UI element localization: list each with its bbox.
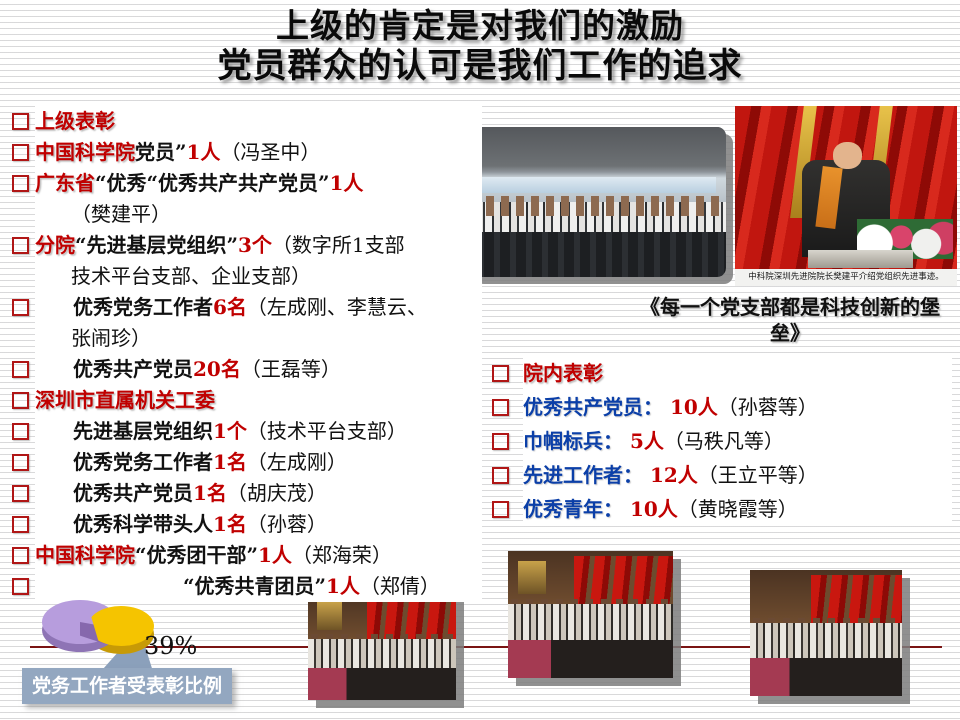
right_list-segment: 5人 (623, 429, 664, 453)
left_list-text: 优秀党务工作者6名（左成刚、李慧云、 (35, 292, 482, 323)
left_list-segment: 1个 (213, 419, 247, 443)
left_list-text: 上级表彰 (35, 106, 482, 137)
left_list-segment: 分院 (35, 233, 75, 257)
left_list-text: （樊建平） (35, 199, 482, 230)
left_list-row: （樊建平） (12, 199, 482, 230)
podium (808, 250, 912, 268)
left_list-segment: “优秀团干部” (135, 543, 258, 567)
right_list-segment: 12人 (643, 463, 698, 487)
right_list-text: 巾帼标兵： 5人（马秩凡等） (523, 424, 952, 458)
audience (750, 658, 902, 696)
checkbox-bullet-icon (12, 516, 29, 533)
left_list-segment: “先进基层党组织” (75, 233, 238, 257)
slide-canvas: 上级的肯定是对我们的激励 党员群众的认可是我们工作的追求 中科院深圳先进院院长樊… (0, 0, 960, 720)
left_list-segment: （技术平台支部） (247, 419, 407, 443)
checkbox-bullet-icon (12, 361, 29, 378)
left-awards-list: 上级表彰中国科学院党员”1人（冯圣中）广东省“优秀“优秀共产共产党员”1人（樊建… (12, 106, 482, 602)
left_list-segment: 6名 (213, 295, 247, 319)
left_list-row: 张闹珍） (12, 323, 482, 354)
left_list-text: 技术平台支部、企业支部） (35, 261, 482, 292)
speaker-photo-caption: 中科院深圳先进院院长樊建平介绍党组织先进事迹。 (735, 269, 957, 286)
checkbox-bullet-icon (492, 399, 509, 416)
title-line-1: 上级的肯定是对我们的激励 (0, 6, 960, 46)
ceremony-photo-2 (508, 551, 673, 678)
right_list-row: 优秀青年： 10人（黄晓霞等） (492, 492, 952, 526)
left_list-segment: 张闹珍） (71, 326, 151, 350)
right_list-segment: （马秩凡等） (664, 429, 784, 453)
left_list-segment: 优秀共产党员 (73, 357, 193, 381)
award-recipients (308, 639, 456, 671)
award-recipients (750, 623, 902, 661)
checkbox-bullet-icon (12, 175, 29, 192)
left_list-segment: （左成刚、李慧云、 (247, 295, 427, 319)
right_list-text: 先进工作者： 12人（王立平等） (523, 458, 952, 492)
left_list-segment: 深圳市直属机关工委 (35, 388, 215, 412)
title-line-2: 党员群众的认可是我们工作的追求 (0, 46, 960, 86)
left_list-segment: （郑海荣） (292, 543, 392, 567)
left_list-text: 深圳市直属机关工委 (35, 385, 482, 416)
left_list-row: 深圳市直属机关工委 (12, 385, 482, 416)
left_list-row: 中国科学院党员”1人（冯圣中） (12, 137, 482, 168)
speaker-head (833, 142, 862, 169)
checkbox-bullet-icon (492, 365, 509, 382)
right_list-text: 优秀青年： 10人（黄晓霞等） (523, 492, 952, 526)
left_list-row: 先进基层党组织1个（技术平台支部） (12, 416, 482, 447)
checkbox-bullet-icon (12, 144, 29, 161)
left_list-text: 优秀科学带头人1名（孙蓉） (35, 509, 482, 540)
left_list-text: 优秀共产党员20名（王磊等） (35, 354, 482, 385)
left_list-segment: 1名 (213, 512, 247, 536)
checkbox-bullet-icon (12, 330, 29, 347)
left_list-segment: 先进基层党组织 (73, 419, 213, 443)
left_list-segment: 20名 (193, 357, 241, 381)
left_list-segment: “优秀“优秀共产共产党员” (95, 171, 330, 195)
left_list-segment: （孙蓉） (247, 512, 327, 536)
left_list-segment: 3个 (238, 233, 272, 257)
left_list-segment: 1人 (187, 140, 221, 164)
checkbox-bullet-icon (492, 467, 509, 484)
photo-caption: 《每一个党支部都是科技创新的堡垒》 (640, 294, 940, 346)
left_list-row: 上级表彰 (12, 106, 482, 137)
left_list-segment: （郑倩） (360, 574, 440, 598)
left_list-row: 优秀共产党员1名（胡庆茂） (12, 478, 482, 509)
left_list-text: 先进基层党组织1个（技术平台支部） (35, 416, 482, 447)
right_list-text: 优秀共产党员： 10人（孙蓉等） (523, 390, 952, 424)
right_list-segment: （黄晓霞等） (678, 497, 798, 521)
left_list-segment: （左成刚） (247, 450, 347, 474)
left_list-row: 优秀党务工作者6名（左成刚、李慧云、 (12, 292, 482, 323)
checkbox-bullet-icon (492, 501, 509, 518)
left_list-segment: 1名 (213, 450, 247, 474)
left_list-text: 广东省“优秀“优秀共产共产党员”1人 (35, 168, 482, 199)
left_list-segment: 党员” (135, 140, 187, 164)
audience (508, 640, 673, 678)
right_list-segment: 10人 (623, 497, 678, 521)
right_list-segment: 院内表彰 (523, 361, 603, 385)
left_list-row: 广东省“优秀“优秀共产共产党员”1人 (12, 168, 482, 199)
right-awards-list: 院内表彰优秀共产党员： 10人（孙蓉等）巾帼标兵： 5人（马秩凡等）先进工作者：… (492, 356, 952, 526)
left_list-row: 优秀科学带头人1名（孙蓉） (12, 509, 482, 540)
right_list-row: 先进工作者： 12人（王立平等） (492, 458, 952, 492)
ceremony-photo-1 (308, 594, 456, 700)
checkbox-bullet-icon (12, 206, 29, 223)
checkbox-bullet-icon (12, 237, 29, 254)
right_list-text: 院内表彰 (523, 356, 952, 390)
group-photo-banner (478, 177, 715, 194)
left_list-segment: 1人 (258, 543, 292, 567)
left_list-text: 分院“先进基层党组织”3个（数字所1支部 (35, 230, 482, 261)
checkbox-bullet-icon (12, 578, 29, 595)
left_list-segment: （冯圣中） (220, 140, 320, 164)
speaker-photo: 中科院深圳先进院院长樊建平介绍党组织先进事迹。 (735, 106, 957, 286)
checkbox-bullet-icon (12, 485, 29, 502)
right_list-row: 优秀共产党员： 10人（孙蓉等） (492, 390, 952, 424)
pie-percent-label: 39% (144, 632, 197, 660)
left_list-segment: “优秀共青团员” (183, 574, 326, 598)
right_list-row: 院内表彰 (492, 356, 952, 390)
left_list-segment: 优秀共产党员 (73, 481, 193, 505)
checkbox-bullet-icon (12, 268, 29, 285)
checkbox-bullet-icon (12, 299, 29, 316)
left_list-segment: （数字所1支部 (272, 233, 405, 257)
left_list-row: 优秀党务工作者1名（左成刚） (12, 447, 482, 478)
left_list-text: 优秀共产党员1名（胡庆茂） (35, 478, 482, 509)
left_list-segment: 技术平台支部、企业支部） (71, 264, 311, 288)
left_list-text: 中国科学院“优秀团干部”1人（郑海荣） (35, 540, 482, 571)
left_list-row: 优秀共产党员20名（王磊等） (12, 354, 482, 385)
ceremony-photo-3 (750, 570, 902, 696)
right_list-segment: 优秀共产党员： (523, 395, 663, 419)
audience (308, 668, 456, 700)
checkbox-bullet-icon (12, 423, 29, 440)
group-photo (468, 127, 726, 277)
right_list-segment: 先进工作者： (523, 463, 643, 487)
left_list-segment: 优秀科学带头人 (73, 512, 213, 536)
left_list-segment: 中国科学院 (35, 140, 135, 164)
left_list-text: 中国科学院党员”1人（冯圣中） (35, 137, 482, 168)
checkbox-bullet-icon (12, 113, 29, 130)
award-recipients (508, 604, 673, 642)
checkbox-bullet-icon (12, 454, 29, 471)
group-photo-heads (468, 196, 726, 216)
left_list-segment: 优秀党务工作者 (73, 295, 213, 319)
left_list-segment: 1名 (193, 481, 227, 505)
page-title: 上级的肯定是对我们的激励 党员群众的认可是我们工作的追求 (0, 6, 960, 86)
left_list-segment: （樊建平） (71, 202, 171, 226)
right_list-segment: 优秀青年： (523, 497, 623, 521)
left_list-segment: 中国科学院 (35, 543, 135, 567)
stage-screen (518, 561, 546, 594)
group-photo-legs (468, 232, 726, 277)
left_list-row: 分院“先进基层党组织”3个（数字所1支部 (12, 230, 482, 261)
left_list-segment: 广东省 (35, 171, 95, 195)
checkbox-bullet-icon (12, 547, 29, 564)
stage-screen (317, 602, 342, 630)
right_list-row: 巾帼标兵： 5人（马秩凡等） (492, 424, 952, 458)
right_list-segment: 巾帼标兵： (523, 429, 623, 453)
left_list-segment: 上级表彰 (35, 109, 115, 133)
right_list-segment: （孙蓉等） (718, 395, 818, 419)
right_list-segment: 10人 (663, 395, 718, 419)
left_list-row: 中国科学院“优秀团干部”1人（郑海荣） (12, 540, 482, 571)
left_list-segment: （胡庆茂） (227, 481, 327, 505)
checkbox-bullet-icon (492, 433, 509, 450)
right_list-segment: （王立平等） (698, 463, 818, 487)
left_list-segment: 1人 (330, 171, 364, 195)
left_list-text: 优秀党务工作者1名（左成刚） (35, 447, 482, 478)
pie-chart-callout-label: 党务工作者受表彰比例 (22, 668, 232, 704)
left_list-row: 技术平台支部、企业支部） (12, 261, 482, 292)
left_list-segment: （王磊等） (241, 357, 341, 381)
left_list-segment: 1人 (326, 574, 360, 598)
left_list-text: 张闹珍） (35, 323, 482, 354)
checkbox-bullet-icon (12, 392, 29, 409)
left_list-segment: 优秀党务工作者 (73, 450, 213, 474)
